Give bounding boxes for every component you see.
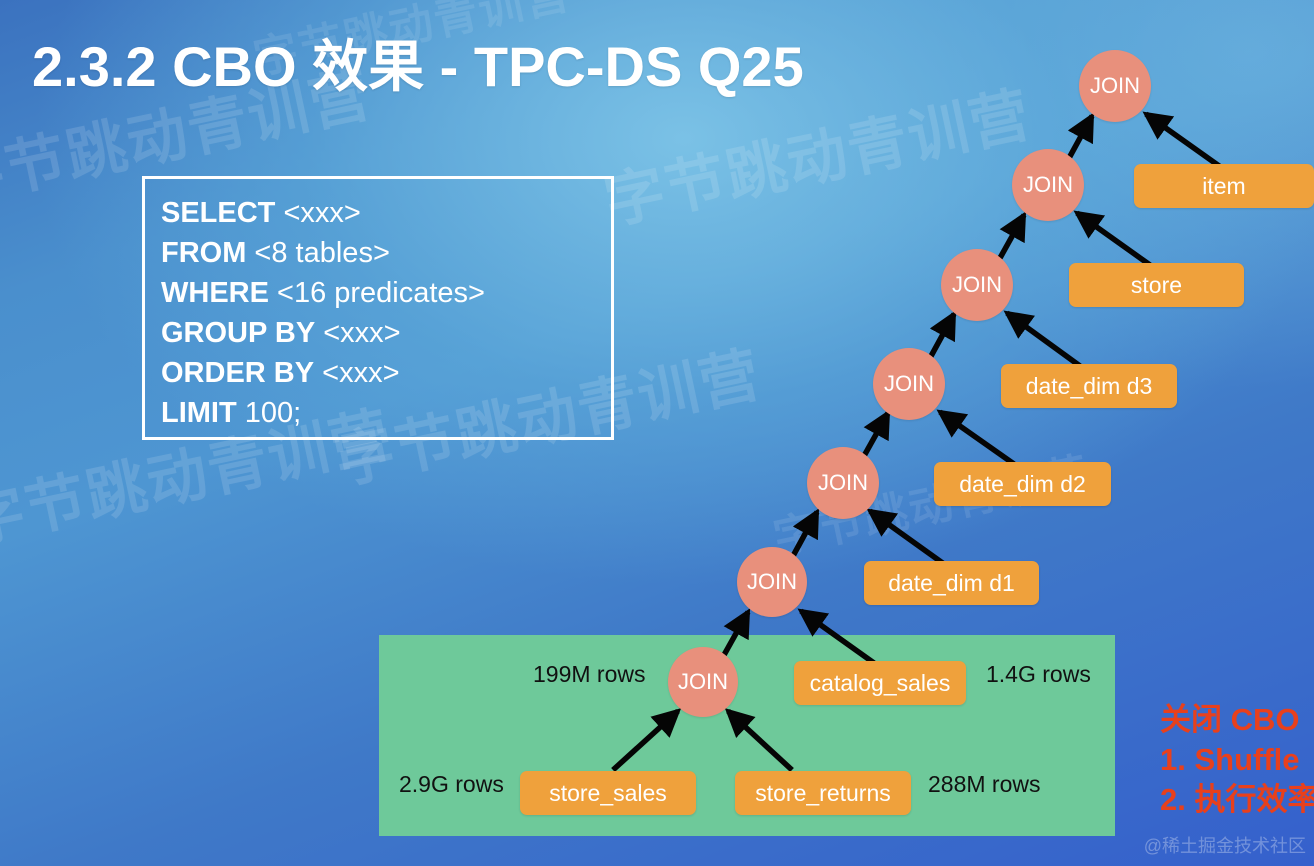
table-node-store-sales[interactable]: store_sales xyxy=(520,771,696,815)
join-node-label: JOIN xyxy=(1090,73,1140,99)
sql-line: FROM <8 tables> xyxy=(161,233,611,273)
join-node-6[interactable]: JOIN xyxy=(1012,149,1084,221)
sql-line: GROUP BY <xxx> xyxy=(161,313,611,353)
table-node-label: store_sales xyxy=(549,780,667,807)
sql-line: LIMIT 100; xyxy=(161,393,611,433)
table-node-label: store_returns xyxy=(755,780,891,807)
sql-keyword: ORDER BY xyxy=(161,357,314,389)
sql-argument: <8 tables> xyxy=(246,237,390,269)
join-node-label: JOIN xyxy=(952,272,1002,298)
row-count-store-returns: 288M rows xyxy=(928,771,1040,798)
slide-canvas: 字节跳动青训营 字节跳动青训营 字节跳动青训营 字节跳动青训营 字节跳动青训营 … xyxy=(0,0,1314,866)
table-node-date-dim-d1[interactable]: date_dim d1 xyxy=(864,561,1039,605)
sql-keyword: WHERE xyxy=(161,277,269,309)
join-node-label: JOIN xyxy=(884,371,934,397)
table-node-label: item xyxy=(1202,173,1245,200)
sql-argument: <xxx> xyxy=(315,317,400,349)
join-node-1[interactable]: JOIN xyxy=(668,647,738,717)
row-count-catalog-sales: 1.4G rows xyxy=(986,661,1091,688)
table-node-date-dim-d3[interactable]: date_dim d3 xyxy=(1001,364,1177,408)
sql-query-box: SELECT <xxx> FROM <8 tables> WHERE <16 p… xyxy=(142,176,614,440)
join-node-label: JOIN xyxy=(818,470,868,496)
table-node-date-dim-d2[interactable]: date_dim d2 xyxy=(934,462,1111,506)
sql-line: SELECT <xxx> xyxy=(161,193,611,233)
table-node-store-returns[interactable]: store_returns xyxy=(735,771,911,815)
join-node-label: JOIN xyxy=(747,569,797,595)
table-node-label: catalog_sales xyxy=(810,670,951,697)
sql-argument: <16 predicates> xyxy=(269,277,485,309)
sql-keyword: SELECT xyxy=(161,197,275,229)
sql-argument: 100; xyxy=(237,397,302,429)
row-count-store-sales: 2.9G rows xyxy=(399,771,504,798)
table-node-item[interactable]: item xyxy=(1134,164,1314,208)
join-node-label: JOIN xyxy=(678,669,728,695)
join-node-label: JOIN xyxy=(1023,172,1073,198)
sql-argument: <xxx> xyxy=(314,357,399,389)
join-node-5[interactable]: JOIN xyxy=(941,249,1013,321)
join-node-3[interactable]: JOIN xyxy=(807,447,879,519)
sql-line: ORDER BY <xxx> xyxy=(161,353,611,393)
row-count-join-1: 199M rows xyxy=(533,661,645,688)
sql-keyword: FROM xyxy=(161,237,246,269)
cbo-note-line: 关闭 CBO xyxy=(1160,700,1314,740)
join-node-2[interactable]: JOIN xyxy=(737,547,807,617)
corner-watermark: @稀土掘金技术社区 xyxy=(1144,832,1306,858)
table-node-store[interactable]: store xyxy=(1069,263,1244,307)
sql-keyword: GROUP BY xyxy=(161,317,315,349)
sql-line: WHERE <16 predicates> xyxy=(161,273,611,313)
table-node-label: date_dim d2 xyxy=(959,471,1086,498)
table-node-label: date_dim d3 xyxy=(1026,373,1153,400)
table-node-label: date_dim d1 xyxy=(888,570,1015,597)
cbo-note-line: 1. Shuffle xyxy=(1160,740,1314,780)
sql-argument: <xxx> xyxy=(275,197,360,229)
cbo-note-line: 2. 执行效率 xyxy=(1160,780,1314,820)
sql-keyword: LIMIT xyxy=(161,397,237,429)
join-node-4[interactable]: JOIN xyxy=(873,348,945,420)
join-node-7[interactable]: JOIN xyxy=(1079,50,1151,122)
table-node-label: store xyxy=(1131,272,1182,299)
cbo-notes: 关闭 CBO 1. Shuffle 2. 执行效率 xyxy=(1160,700,1314,820)
table-node-catalog-sales[interactable]: catalog_sales xyxy=(794,661,966,705)
page-title: 2.3.2 CBO 效果 - TPC-DS Q25 xyxy=(32,22,804,103)
